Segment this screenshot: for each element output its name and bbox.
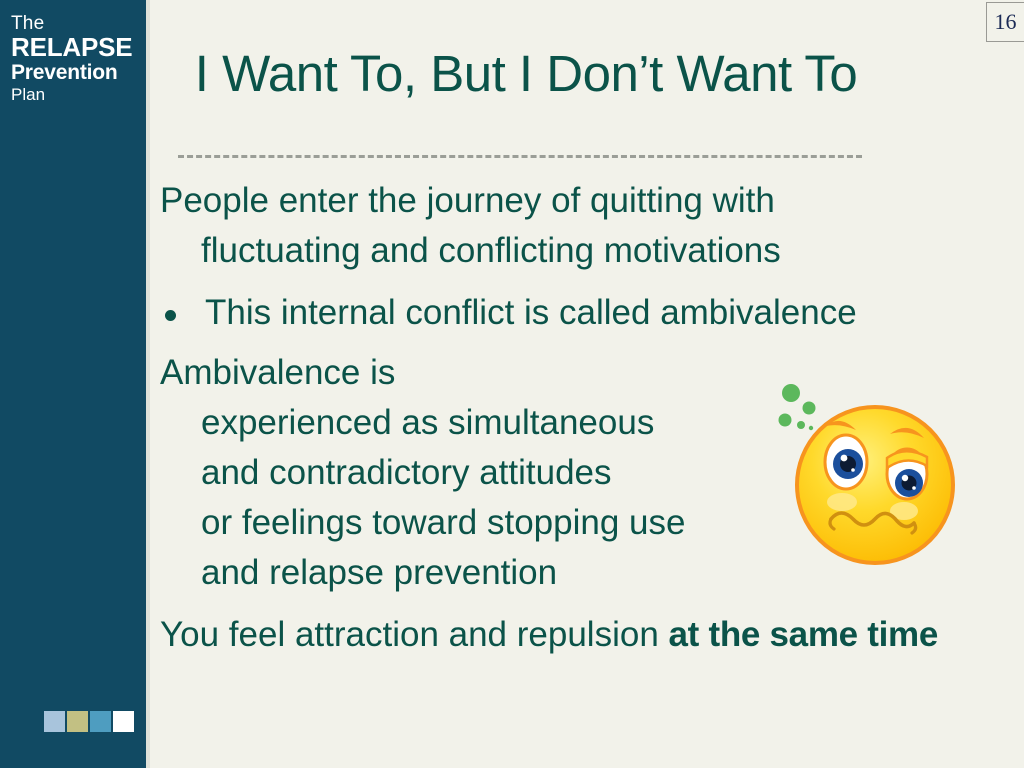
logo-line-the: The	[11, 14, 143, 33]
swatch-khaki	[67, 711, 88, 732]
logo-line-plan: Plan	[11, 86, 143, 103]
logo-line-prevention: Prevention	[11, 62, 143, 83]
spacer	[160, 276, 1020, 288]
swatch-light-blue	[44, 711, 65, 732]
spacer	[160, 338, 1020, 348]
page-title: I Want To, But I Don’t Want To	[146, 44, 906, 103]
bullet-item-1: This internal conflict is called ambival…	[160, 288, 1020, 338]
sidebar-edge	[146, 0, 150, 768]
bubble-medium-icon	[803, 402, 816, 415]
title-divider	[178, 155, 862, 158]
bubble-medium-2-icon	[779, 414, 792, 427]
bullet-dot-icon	[165, 310, 176, 321]
paragraph-3: You feel attraction and repulsion at the…	[160, 610, 1020, 660]
spacer	[160, 598, 1020, 610]
bullet-item-1-label: This internal conflict is called ambival…	[205, 293, 857, 332]
paragraph-1-line-1: People enter the journey of quitting wit…	[160, 176, 1020, 226]
page-number: 16	[986, 2, 1024, 42]
confused-uneasy-face-emoji	[768, 378, 968, 578]
sidebar: The RELAPSE Prevention Plan	[0, 0, 146, 768]
paragraph-1-line-2: fluctuating and conflicting motivations	[160, 226, 1020, 276]
paragraph-1: People enter the journey of quitting wit…	[160, 176, 1020, 276]
bubble-large-icon	[782, 384, 800, 402]
swatch-blue	[90, 711, 111, 732]
slide: The RELAPSE Prevention Plan 16 I Want To…	[0, 0, 1024, 768]
bubble-small-icon	[797, 421, 805, 429]
bubble-tiny-icon	[809, 426, 813, 430]
paragraph-3-normal-text: You feel attraction and repulsion	[160, 615, 669, 654]
swatch-white	[113, 711, 134, 732]
paragraph-3-emphasis-text: at the same time	[669, 615, 938, 654]
brand-logo: The RELAPSE Prevention Plan	[11, 14, 143, 104]
swatch-row	[44, 711, 134, 732]
logo-line-relapse: RELAPSE	[11, 34, 143, 61]
